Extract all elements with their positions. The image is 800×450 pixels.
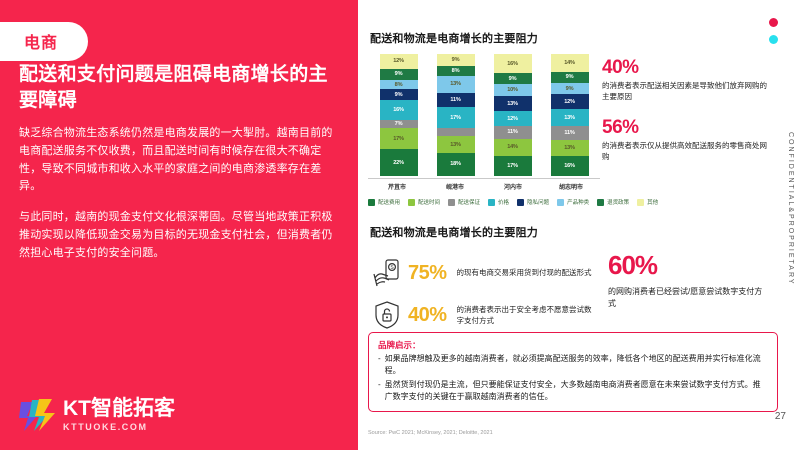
shield-lock-icon xyxy=(370,298,404,332)
insight-item-text: 虽然货到付现仍是主流，但只要能保证支付安全，大多数越南电商消费者愿意在未来尝试数… xyxy=(385,379,768,404)
legend-item: 产品种类 xyxy=(557,198,589,206)
legend-label: 价格 xyxy=(498,198,509,206)
chart-x-labels: 芹苴市岘港市河内市胡志明市 xyxy=(368,182,600,191)
bar-segment: 16% xyxy=(380,100,418,120)
legend-item: 其他 xyxy=(637,198,658,206)
icon-stat-value: 40% xyxy=(408,305,447,325)
bar-segment: 18% xyxy=(437,153,475,176)
bar-segment: 16% xyxy=(494,54,532,73)
legend-swatch xyxy=(448,199,455,206)
bar-segment: 13% xyxy=(494,96,532,112)
stat-description: 的消费者表示配送相关因素是导致他们放弃网购的主要原因 xyxy=(602,80,770,103)
legend-swatch xyxy=(488,199,495,206)
confidential-label: CONFIDENTIAL&PROPRIETARY xyxy=(787,132,794,286)
category-tag-label: 电商 xyxy=(24,29,58,53)
chart-axis xyxy=(368,178,600,179)
left-panel: 电商 配送和支付问题是阻碍电商增长的主要障碍 缺乏综合物流生态系统仍然是电商发展… xyxy=(0,0,358,450)
legend-label: 配送保证 xyxy=(458,198,480,206)
insight-item: - 虽然货到付现仍是主流，但只要能保证支付安全，大多数越南电商消费者愿意在未来尝… xyxy=(378,379,768,404)
stat-block-delivery-abandon: 40% 的消费者表示配送相关因素是导致他们放弃网购的主要原因 xyxy=(602,58,770,103)
bar-segment: 12% xyxy=(380,54,418,69)
legend-swatch xyxy=(368,199,375,206)
bar-column: 12%9%8%9%16%7%17%22% xyxy=(380,54,418,176)
body-paragraph-2: 与此同时，越南的现金支付文化根深蒂固。尽管当地政策正积极推动实现以降低现金交易为… xyxy=(19,209,333,262)
legend-item: 配送时间 xyxy=(408,198,440,206)
big-stat-description: 的网购消费者已经尝试/愿意尝试数字支付方式 xyxy=(608,286,768,311)
icon-stat-value: 75% xyxy=(408,263,447,283)
bar-segment: 12% xyxy=(551,94,589,109)
stacked-bar-chart: 12%9%8%9%16%7%17%22%9%8%13%11%17%13%18%1… xyxy=(368,54,600,204)
bar-segment: 16% xyxy=(551,156,589,176)
right-panel: CONFIDENTIAL&PROPRIETARY 27 配送和物流是电商增长的主… xyxy=(358,0,800,450)
stat-value: 56% xyxy=(602,118,770,137)
cash-on-delivery-icon: S xyxy=(370,256,404,290)
chart-bars: 12%9%8%9%16%7%17%22%9%8%13%11%17%13%18%1… xyxy=(368,54,600,176)
stat-description: 的消费者表示仅从提供高效配送服务的零售商处网购 xyxy=(602,140,770,163)
section-1-title: 配送和物流是电商增长的主要阻力 xyxy=(370,30,538,46)
bar-segment: 8% xyxy=(380,80,418,90)
bar-segment: 10% xyxy=(494,84,532,96)
bullet-dash: - xyxy=(378,353,381,378)
dot-cyan-icon xyxy=(769,35,778,44)
bar-column: 16%9%10%13%12%11%14%17% xyxy=(494,54,532,176)
logo-text: KT智能拓客 KTTUOKE.COM xyxy=(63,398,175,432)
legend-swatch xyxy=(557,199,564,206)
bar-segment: 11% xyxy=(494,126,532,139)
stat-block-efficient-retailers: 56% 的消费者表示仅从提供高效配送服务的零售商处网购 xyxy=(602,118,770,163)
legend-label: 其他 xyxy=(647,198,658,206)
bar-segment: 9% xyxy=(380,69,418,80)
icon-stat-description: 的消费者表示出于安全考虑不愿意尝试数字支付方式 xyxy=(457,304,599,327)
bar-segment: 13% xyxy=(551,140,589,156)
brand-insight-box: 品牌启示： - 如果品牌想触及更多的越南消费者，就必须提高配送服务的效率，降低各… xyxy=(368,332,778,412)
logo: KT智能拓客 KTTUOKE.COM xyxy=(19,398,175,432)
bullet-dash: - xyxy=(378,379,381,404)
legend-swatch xyxy=(517,199,524,206)
x-axis-label: 芹苴市 xyxy=(376,182,418,191)
slide-title: 配送和支付问题是阻碍电商增长的主要障碍 xyxy=(19,62,339,113)
logo-domain: KTTUOKE.COM xyxy=(63,422,175,432)
bar-segment: 9% xyxy=(551,72,589,83)
bar-segment: 11% xyxy=(437,93,475,107)
legend-swatch xyxy=(408,199,415,206)
insight-heading: 品牌启示： xyxy=(378,339,768,351)
legend-label: 产品种类 xyxy=(567,198,589,206)
stat-value: 40% xyxy=(602,58,770,77)
bar-segment: 13% xyxy=(437,76,475,93)
bar-segment: 13% xyxy=(437,136,475,153)
bar-column: 14%9%9%12%13%11%13%16% xyxy=(551,54,589,176)
category-tag: 电商 xyxy=(0,22,88,61)
big-stat-value: 60% xyxy=(608,252,768,278)
section-2-title: 配送和物流是电商增长的主要阻力 xyxy=(370,224,538,240)
bar-column: 9%8%13%11%17%13%18% xyxy=(437,54,475,176)
bar-segment: 17% xyxy=(380,128,418,149)
body-paragraph-1: 缺乏综合物流生态系统仍然是电商发展的一大掣肘。越南目前的电商配送服务不仅收费，而… xyxy=(19,125,333,196)
dot-pink-icon xyxy=(769,18,778,27)
legend-swatch xyxy=(597,199,604,206)
logo-name: KT智能拓客 xyxy=(63,398,175,419)
decoration-dots xyxy=(769,18,778,52)
legend-item: 配送保证 xyxy=(448,198,480,206)
bar-segment: 9% xyxy=(494,73,532,84)
legend-item: 退货政策 xyxy=(597,198,629,206)
big-stat-digital-payment: 60% 的网购消费者已经尝试/愿意尝试数字支付方式 xyxy=(608,252,768,311)
bar-segment: 17% xyxy=(494,156,532,176)
legend-label: 配送时间 xyxy=(418,198,440,206)
bar-segment: 7% xyxy=(380,120,418,129)
legend-label: 退货政策 xyxy=(607,198,629,206)
x-axis-label: 岘港市 xyxy=(434,182,476,191)
bar-segment: 11% xyxy=(551,126,589,140)
icon-stat-description: 的现有电商交易采用货到付现的配送形式 xyxy=(457,267,599,278)
insight-item-text: 如果品牌想触及更多的越南消费者，就必须提高配送服务的效率，降低各个地区的配送费用… xyxy=(385,353,768,378)
bar-segment: 22% xyxy=(380,149,418,176)
slide-body: 缺乏综合物流生态系统仍然是电商发展的一大掣肘。越南目前的电商配送服务不仅收费，而… xyxy=(19,125,333,276)
bar-segment: 9% xyxy=(380,89,418,100)
legend-label: 配送费用 xyxy=(378,198,400,206)
legend-label: 隐私问题 xyxy=(527,198,549,206)
legend-item: 价格 xyxy=(488,198,509,206)
insight-item: - 如果品牌想触及更多的越南消费者，就必须提高配送服务的效率，降低各个地区的配送… xyxy=(378,353,768,378)
page-number: 27 xyxy=(775,411,786,422)
bar-segment: 9% xyxy=(437,54,475,66)
bar-segment: 8% xyxy=(437,66,475,76)
legend-item: 配送费用 xyxy=(368,198,400,206)
chart-legend: 配送费用配送时间配送保证价格隐私问题产品种类退货政策其他 xyxy=(368,198,768,206)
icon-stat-cash-on-delivery: S 75% 的现有电商交易采用货到付现的配送形式 xyxy=(370,256,599,290)
bar-segment: 14% xyxy=(494,139,532,156)
bar-segment: 13% xyxy=(551,109,589,125)
legend-swatch xyxy=(637,199,644,206)
bar-segment: 14% xyxy=(551,54,589,72)
icon-stat-payment-security: 40% 的消费者表示出于安全考虑不愿意尝试数字支付方式 xyxy=(370,298,599,332)
bar-segment: 17% xyxy=(437,107,475,129)
x-axis-label: 胡志明市 xyxy=(550,182,592,191)
x-axis-label: 河内市 xyxy=(492,182,534,191)
source-note: Source: PwC 2021; McKinsey, 2021; Deloit… xyxy=(368,430,493,436)
lightning-bolt-icon xyxy=(19,398,59,432)
bar-segment: 12% xyxy=(494,111,532,125)
bar-segment xyxy=(437,128,475,136)
bar-segment: 9% xyxy=(551,83,589,94)
slide: 电商 配送和支付问题是阻碍电商增长的主要障碍 缺乏综合物流生态系统仍然是电商发展… xyxy=(0,0,800,450)
legend-item: 隐私问题 xyxy=(517,198,549,206)
